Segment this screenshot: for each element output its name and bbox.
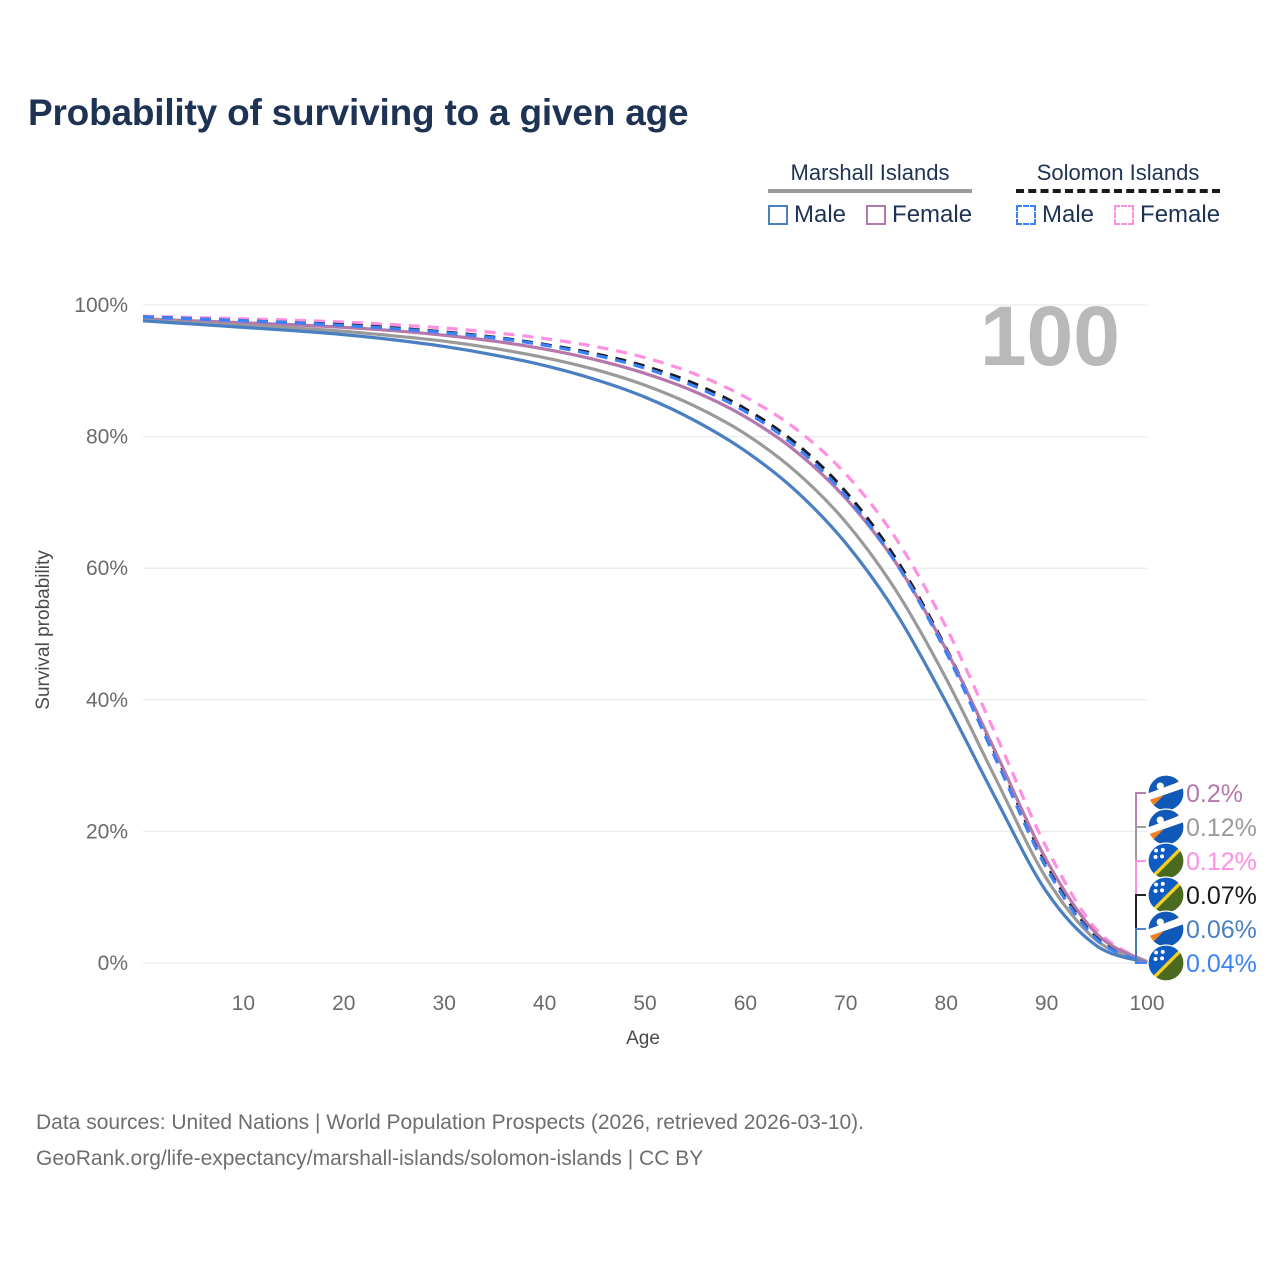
end-label-value: 0.2%	[1186, 780, 1243, 808]
x-axis-tick-label: 30	[433, 992, 456, 1015]
legend-group-marshall-islands: Marshall Islands Male Female	[768, 160, 972, 229]
series-line	[143, 316, 1147, 962]
x-axis-tick-label: 10	[232, 992, 255, 1015]
end-label-connector	[1136, 793, 1147, 962]
marshall-islands-flag-icon	[1148, 775, 1184, 811]
end-label-value: 0.12%	[1186, 814, 1257, 842]
end-labels: 0.2%0.12%0.12%0.07%0.06%0.04%	[1136, 775, 1257, 981]
series-line	[143, 317, 1147, 963]
footer-notes: Data sources: United Nations | World Pop…	[36, 1105, 864, 1177]
series-line	[143, 317, 1147, 963]
x-axis-tick-label: 100	[1129, 992, 1164, 1015]
legend-swatch-solomon-female	[1114, 205, 1134, 225]
legend-swatch-marshall-male	[768, 205, 788, 225]
legend-swatch-solomon-male	[1016, 205, 1036, 225]
legend-group-solomon-islands: Solomon Islands Male Female	[1016, 160, 1220, 229]
watermark-age-100: 100	[980, 289, 1120, 383]
legend-label-marshall-male: Male	[794, 201, 846, 229]
legend-item-solomon-female[interactable]: Female	[1114, 201, 1220, 229]
legend-item-solomon-male[interactable]: Male	[1016, 201, 1094, 229]
legend-label-solomon-female: Female	[1140, 201, 1220, 229]
legend-group-title-solomon-islands: Solomon Islands	[1016, 160, 1220, 186]
y-axis-tick-label: 100%	[74, 294, 128, 317]
gridlines	[143, 305, 1147, 963]
legend-label-solomon-male: Male	[1042, 201, 1094, 229]
legend-label-marshall-female: Female	[892, 201, 972, 229]
y-axis-tick-label: 60%	[86, 557, 128, 580]
end-label-connector	[1136, 861, 1147, 962]
survival-probability-chart: Probability of surviving to a given age …	[0, 0, 1280, 1280]
end-label-connector	[1136, 895, 1147, 963]
solomon-islands-flag-icon	[1148, 843, 1184, 879]
end-label-value: 0.07%	[1186, 882, 1257, 910]
legend-item-marshall-female[interactable]: Female	[866, 201, 972, 229]
series-line	[143, 319, 1147, 962]
legend-swatch-marshall-female	[866, 205, 886, 225]
y-axis-title: Survival probability	[33, 550, 54, 710]
marshall-islands-flag-icon	[1148, 911, 1184, 947]
legend-rule-solomon-islands	[1016, 189, 1220, 193]
x-axis-tick-label: 40	[533, 992, 556, 1015]
y-axis-tick-label: 20%	[86, 820, 128, 843]
page-title: Probability of surviving to a given age	[28, 92, 688, 134]
x-axis-tick-label: 20	[332, 992, 355, 1015]
y-axis-tick-label: 40%	[86, 689, 128, 712]
y-axis-tick-label: 80%	[86, 426, 128, 449]
marshall-islands-flag-icon	[1148, 809, 1184, 845]
solomon-islands-flag-icon	[1148, 945, 1184, 981]
series-line	[143, 320, 1147, 962]
legend-rule-marshall-islands	[768, 189, 972, 193]
x-axis-tick-labels: 102030405060708090100	[232, 992, 1165, 1015]
x-axis-tick-label: 60	[734, 992, 757, 1015]
footer-url-license: GeoRank.org/life-expectancy/marshall-isl…	[36, 1141, 864, 1177]
y-axis-tick-labels: 0%20%40%60%80%100%	[74, 294, 128, 975]
x-axis-tick-label: 90	[1035, 992, 1058, 1015]
end-label-value: 0.04%	[1186, 950, 1257, 978]
legend-item-marshall-male[interactable]: Male	[768, 201, 846, 229]
x-axis-tick-label: 50	[633, 992, 656, 1015]
legend-group-title-marshall-islands: Marshall Islands	[768, 160, 972, 186]
end-label-connector	[1136, 929, 1147, 963]
solomon-islands-flag-icon	[1148, 877, 1184, 913]
series-line	[143, 321, 1147, 963]
footer-data-sources: Data sources: United Nations | World Pop…	[36, 1105, 864, 1141]
end-label-connector	[1136, 827, 1147, 962]
x-axis-title: Age	[626, 1028, 660, 1049]
x-axis-tick-label: 80	[935, 992, 958, 1015]
series-lines	[143, 316, 1147, 963]
end-label-value: 0.12%	[1186, 848, 1257, 876]
y-axis-tick-label: 0%	[98, 952, 128, 975]
end-label-value: 0.06%	[1186, 916, 1257, 944]
x-axis-tick-label: 70	[834, 992, 857, 1015]
chart-legend: Marshall Islands Male Female Solomon Isl…	[760, 160, 1260, 250]
